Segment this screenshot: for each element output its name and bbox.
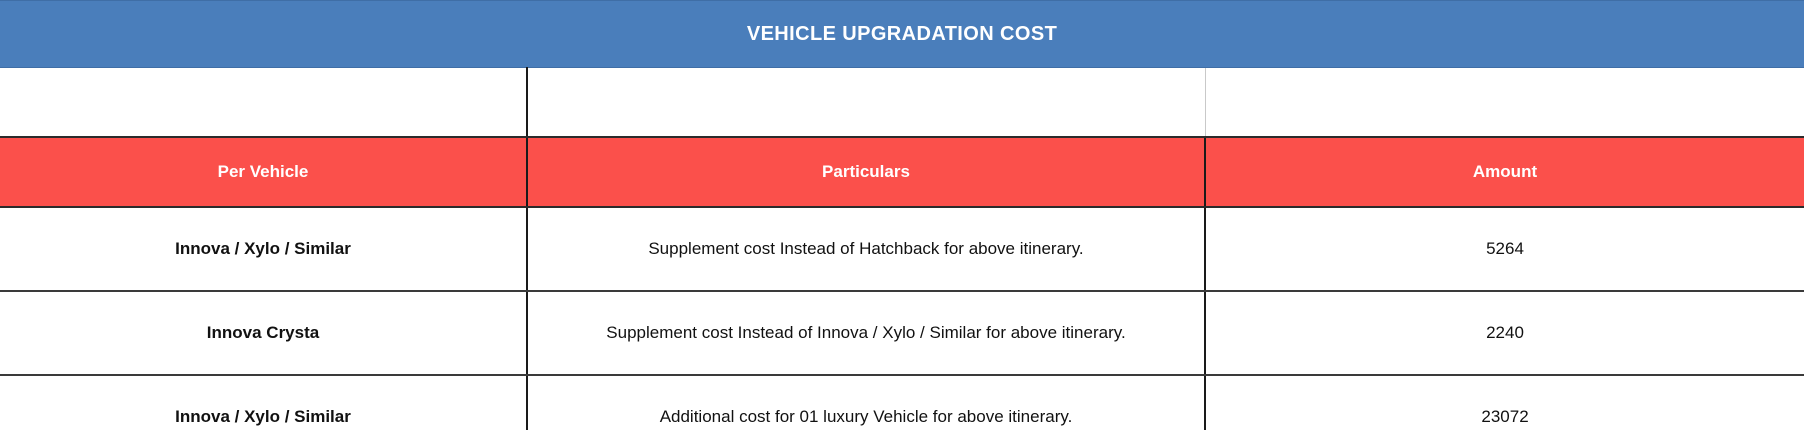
cell-per-vehicle: Innova Crysta: [0, 291, 527, 375]
vehicle-upgradation-cost-sheet: VEHICLE UPGRADATION COST Per Vehicle Par…: [0, 0, 1804, 430]
cell-particulars: Additional cost for 01 luxury Vehicle fo…: [527, 375, 1205, 430]
table-row: Innova Crysta Supplement cost Instead of…: [0, 291, 1804, 375]
table-spacer-row: [0, 68, 1804, 138]
spacer-cell-1: [0, 68, 527, 138]
column-header-per-vehicle: Per Vehicle: [0, 137, 527, 207]
table-title-row: VEHICLE UPGRADATION COST: [0, 1, 1804, 68]
cell-per-vehicle: Innova / Xylo / Similar: [0, 375, 527, 430]
cell-particulars: Supplement cost Instead of Innova / Xylo…: [527, 291, 1205, 375]
spacer-cell-2: [527, 68, 1205, 138]
cell-amount: 23072: [1205, 375, 1804, 430]
table-header-row: Per Vehicle Particulars Amount: [0, 137, 1804, 207]
cell-particulars: Supplement cost Instead of Hatchback for…: [527, 207, 1205, 291]
column-header-particulars: Particulars: [527, 137, 1205, 207]
page-title: VEHICLE UPGRADATION COST: [0, 1, 1804, 68]
table-row: Innova / Xylo / Similar Additional cost …: [0, 375, 1804, 430]
cell-amount: 2240: [1205, 291, 1804, 375]
table-row: Innova / Xylo / Similar Supplement cost …: [0, 207, 1804, 291]
vehicle-upgradation-cost-table: VEHICLE UPGRADATION COST Per Vehicle Par…: [0, 0, 1804, 430]
cell-amount: 5264: [1205, 207, 1804, 291]
spacer-cell-3: [1205, 68, 1804, 138]
column-header-amount: Amount: [1205, 137, 1804, 207]
cell-per-vehicle: Innova / Xylo / Similar: [0, 207, 527, 291]
